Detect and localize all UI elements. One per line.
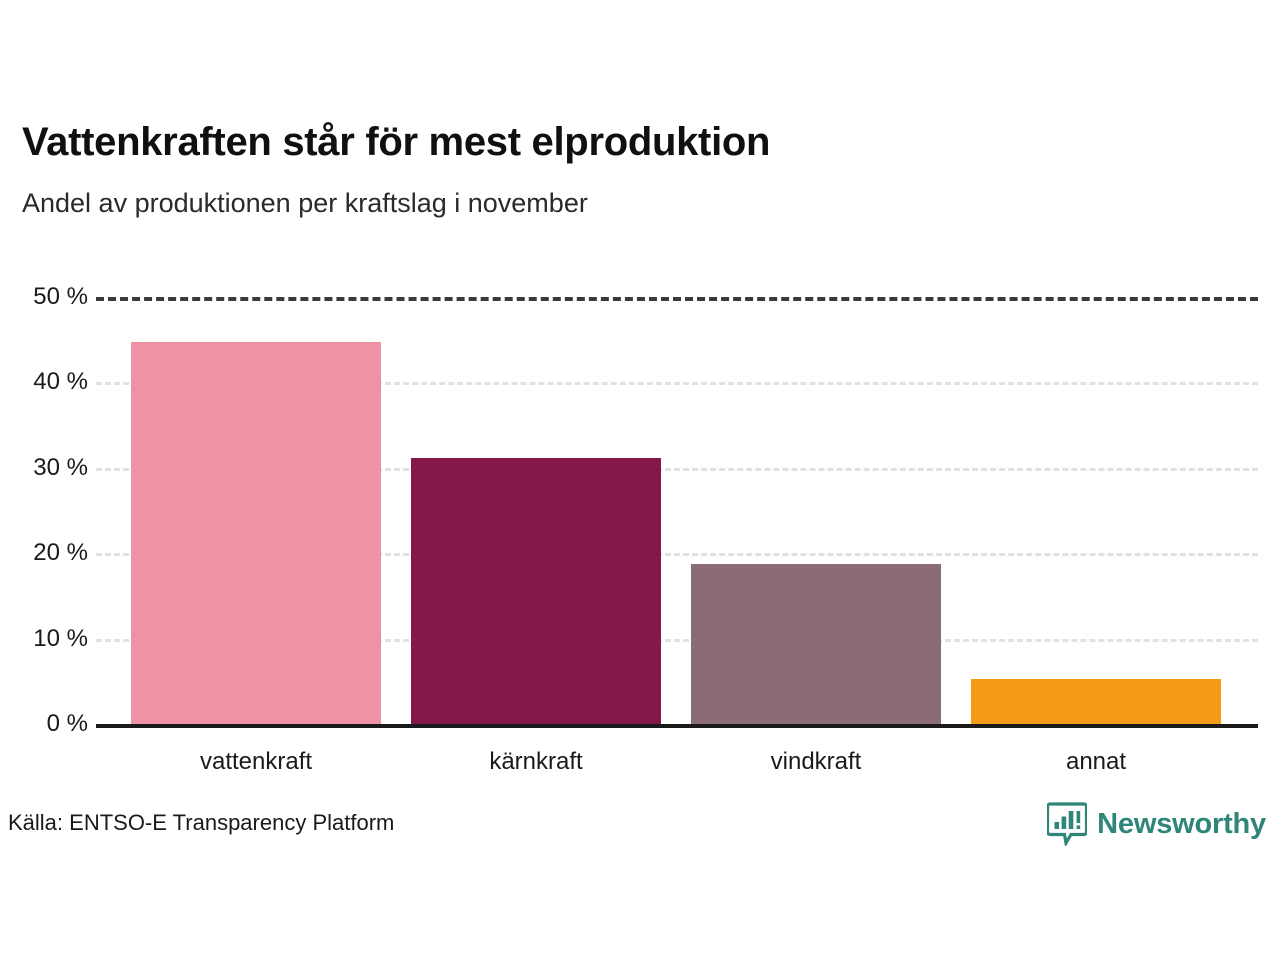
bar-vattenkraft[interactable] bbox=[131, 342, 381, 724]
x-axis-tick-label-annat: annat bbox=[971, 748, 1221, 776]
bar-annat[interactable] bbox=[971, 679, 1221, 724]
newsworthy-logo[interactable]: Newsworthy bbox=[1047, 802, 1266, 846]
brand-name: Newsworthy bbox=[1097, 808, 1266, 841]
x-axis-tick-label-kärnkraft: kärnkraft bbox=[411, 748, 661, 776]
chart-figure: Vattenkraften står för mest elproduktion… bbox=[0, 0, 1280, 960]
bar-kärnkraft[interactable] bbox=[411, 458, 661, 724]
x-axis-tick-label-vindkraft: vindkraft bbox=[691, 748, 941, 776]
x-axis-tick-label-vattenkraft: vattenkraft bbox=[131, 748, 381, 776]
chart-footer: Källa: ENTSO-E Transparency Platform New… bbox=[0, 806, 1280, 862]
bar-vindkraft[interactable] bbox=[691, 564, 941, 724]
source-note: Källa: ENTSO-E Transparency Platform bbox=[8, 810, 394, 836]
chart-bubble-icon bbox=[1047, 802, 1087, 846]
